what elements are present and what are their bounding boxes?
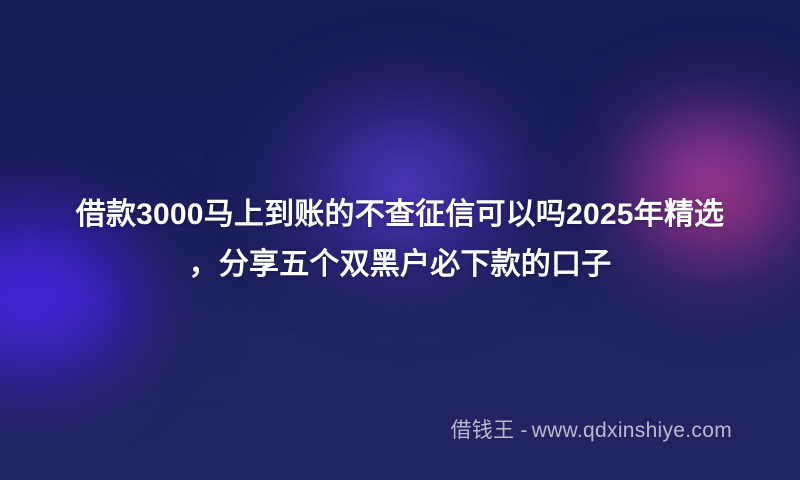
headline-line-1: 借款3000马上到账的不查征信可以吗2025年精选	[40, 190, 760, 240]
watermark: 借钱王-www.qdxinshiye.com	[450, 414, 732, 444]
watermark-separator: -	[520, 419, 527, 442]
headline-line-2: ，分享五个双黑户必下款的口子	[40, 240, 760, 290]
banner-image: 借款3000马上到账的不查征信可以吗2025年精选 ，分享五个双黑户必下款的口子…	[0, 0, 800, 480]
watermark-brand: 借钱王	[450, 419, 514, 442]
headline-text: 借款3000马上到账的不查征信可以吗2025年精选 ，分享五个双黑户必下款的口子	[40, 190, 760, 290]
watermark-url: www.qdxinshiye.com	[532, 419, 732, 442]
